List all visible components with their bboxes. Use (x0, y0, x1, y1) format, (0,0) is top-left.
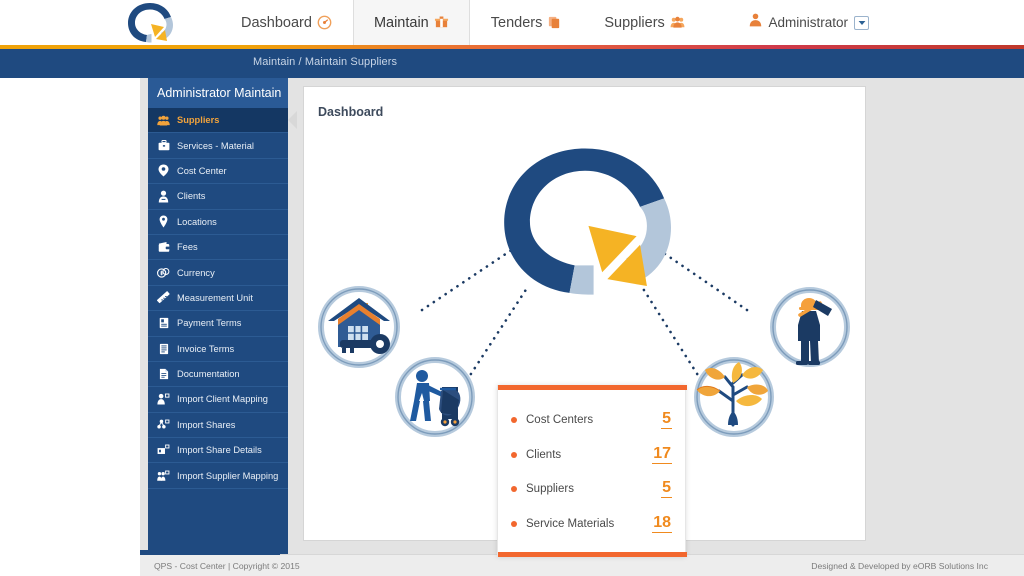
stats-card: Cost Centers 5 Clients 17 Suppliers 5 (497, 385, 686, 557)
sidebar-item-invoice-terms[interactable]: Invoice Terms (148, 337, 288, 362)
active-pointer-arrow (288, 111, 297, 129)
sidebar-item-label: Import Client Mapping (177, 394, 268, 404)
sidebar-header: Administrator Maintain (148, 78, 288, 108)
sidebar-item-label: Currency (177, 268, 215, 278)
app-root: Dashboard Maintain (0, 0, 1024, 576)
sidebar-item-locations[interactable]: Locations (148, 210, 288, 235)
user-name-label: Administrator (768, 15, 848, 30)
sidebar-item-import-share-details[interactable]: Import Share Details (148, 438, 288, 463)
tenders-documents-icon (547, 15, 562, 30)
sidebar-item-cost-center[interactable]: Cost Center (148, 159, 288, 184)
top-navigation-bar: Dashboard Maintain (0, 0, 1024, 45)
breadcrumb: Maintain / Maintain Suppliers (253, 56, 397, 68)
sidebar-item-measurement-unit[interactable]: Measurement Unit (148, 286, 288, 311)
group-people-icon (157, 114, 170, 127)
user-person-icon (749, 13, 762, 32)
bullet-dot-icon (511, 486, 517, 492)
user-menu[interactable]: Administrator (749, 0, 1024, 45)
stat-label: Clients (526, 449, 561, 461)
import-user-icon (157, 393, 170, 406)
sidebar-item-label: Measurement Unit (177, 293, 253, 303)
sidebar-item-label: Suppliers (177, 115, 219, 125)
user-badge-icon (157, 190, 170, 203)
chevron-down-icon[interactable] (854, 16, 869, 30)
stat-row-service-materials: Service Materials 18 (498, 507, 685, 542)
bullet-dot-icon (511, 452, 517, 458)
sidebar-item-fees[interactable]: Fees (148, 235, 288, 260)
bullet-dot-icon (511, 521, 517, 527)
stat-value: 5 (661, 411, 672, 429)
footer-bar: QPS - Cost Center | Copyright © 2015 Des… (140, 554, 1024, 576)
stat-row-cost-centers: Cost Centers 5 (498, 403, 685, 438)
stat-label: Service Materials (526, 518, 614, 530)
tab-tenders[interactable]: Tenders (470, 0, 584, 45)
maintain-toolbox-icon (434, 15, 449, 30)
nav-tab-list: Dashboard Maintain (220, 0, 706, 45)
map-pin-circle-icon (157, 164, 170, 177)
sidebar-item-import-client-mapping[interactable]: Import Client Mapping (148, 387, 288, 412)
stat-value: 5 (661, 480, 672, 498)
plant-leaves-icon (697, 360, 771, 434)
sidebar-item-documentation[interactable]: Documentation (148, 362, 288, 387)
tab-suppliers[interactable]: Suppliers (583, 0, 705, 45)
sidebar-item-suppliers[interactable]: Suppliers (148, 108, 288, 133)
bullet-dot-icon (511, 417, 517, 423)
house-key-icon (321, 289, 397, 365)
sidebar-item-clients[interactable]: Clients (148, 184, 288, 209)
sidebar-item-label: Invoice Terms (177, 344, 234, 354)
footer-sidebar-cap (140, 550, 280, 555)
worker-hammer-icon (773, 290, 847, 365)
sidebar-item-label: Locations (177, 217, 217, 227)
tab-tenders-label: Tenders (491, 15, 543, 31)
sidebar-item-label: Payment Terms (177, 318, 241, 328)
sidebar-item-currency[interactable]: Currency (148, 260, 288, 285)
tab-suppliers-label: Suppliers (604, 15, 664, 31)
briefcase-icon (157, 139, 170, 152)
ruler-icon (157, 291, 170, 304)
location-pin-icon (157, 215, 170, 228)
suppliers-group-icon (670, 15, 685, 30)
wallet-icon (157, 241, 170, 254)
import-details-icon (157, 444, 170, 457)
worker-cart-icon (398, 360, 472, 434)
tab-dashboard-label: Dashboard (241, 15, 312, 31)
sidebar-item-payment-terms[interactable]: Payment Terms (148, 311, 288, 336)
qps-brand-logo-icon (504, 148, 671, 294)
brand-logo-container[interactable] (0, 0, 220, 45)
stat-row-clients: Clients 17 (498, 438, 685, 473)
stat-value: 17 (652, 446, 672, 464)
tab-maintain-label: Maintain (374, 15, 429, 31)
sidebar-item-label: Documentation (177, 369, 240, 379)
sidebar-item-label: Clients (177, 191, 205, 201)
stats-list: Cost Centers 5 Clients 17 Suppliers 5 (498, 385, 685, 541)
footer-copyright: QPS - Cost Center | Copyright © 2015 (154, 561, 300, 571)
sidebar-item-import-supplier-mapping[interactable]: Import Supplier Mapping (148, 463, 288, 488)
tab-dashboard[interactable]: Dashboard (220, 0, 353, 45)
sidebar: Administrator Maintain Suppliers (148, 78, 288, 554)
stat-row-suppliers: Suppliers 5 (498, 472, 685, 507)
sidebar-item-import-shares[interactable]: Import Shares (148, 413, 288, 438)
sidebar-item-label: Cost Center (177, 166, 227, 176)
import-share-icon (157, 418, 170, 431)
sidebar-item-label: Services - Material (177, 141, 254, 151)
footer-credit: Designed & Developed by eORB Solutions I… (811, 561, 988, 571)
tab-maintain[interactable]: Maintain (353, 0, 470, 45)
import-suppliers-icon (157, 469, 170, 482)
page-title: Dashboard (318, 105, 383, 119)
payment-card-icon (157, 317, 170, 330)
stat-value: 18 (652, 515, 672, 533)
dashboard-panel: Dashboard (303, 86, 866, 541)
stat-label: Suppliers (526, 483, 574, 495)
connector-lines (422, 245, 747, 380)
coins-icon (157, 266, 170, 279)
sidebar-item-services-material[interactable]: Services - Material (148, 133, 288, 158)
sidebar-item-label: Import Share Details (177, 445, 262, 455)
stat-label: Cost Centers (526, 414, 593, 426)
sidebar-item-label: Import Supplier Mapping (177, 471, 278, 481)
sidebar-item-label: Import Shares (177, 420, 235, 430)
sidebar-item-label: Fees (177, 242, 198, 252)
document-page-icon (157, 368, 170, 381)
dashboard-gauge-icon (317, 15, 332, 30)
breadcrumb-bar: Maintain / Maintain Suppliers (0, 49, 1024, 78)
qps-logo-icon (124, 1, 176, 45)
body-wrapper: Administrator Maintain Suppliers (0, 78, 1024, 554)
invoice-list-icon (157, 342, 170, 355)
